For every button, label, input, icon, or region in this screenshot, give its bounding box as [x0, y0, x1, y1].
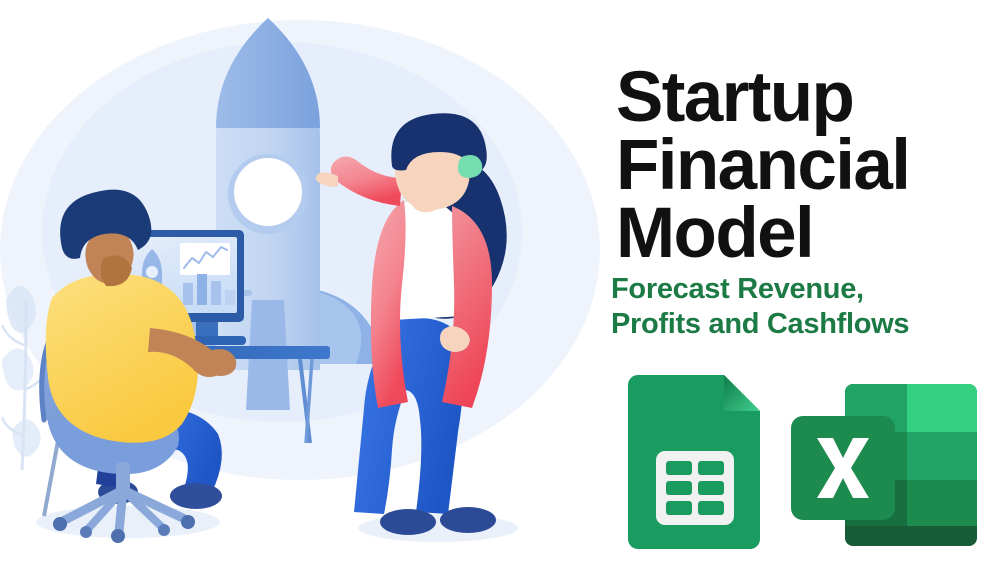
microsoft-excel-icon[interactable] [785, 370, 990, 555]
woman-hair-tie [458, 155, 482, 178]
title-line-1: Startup [616, 64, 1005, 132]
title-line-2: Financial [616, 132, 1005, 200]
excel-band-mid-right [907, 432, 977, 480]
google-sheets-icon[interactable] [618, 373, 770, 551]
man-shoe-right [170, 483, 222, 509]
poster-canvas: Startup Financial Model Forecast Revenue… [0, 0, 1005, 565]
woman-shoe-left [380, 509, 436, 535]
page-subtitle: Forecast Revenue, Profits and Cashflows [611, 272, 1003, 343]
text-panel: Startup Financial Model Forecast Revenue… [600, 0, 1005, 565]
page-title: Startup Financial Model [616, 64, 1005, 268]
excel-band-top-right [907, 384, 977, 432]
man-shirt [46, 274, 198, 443]
excel-band-low-right [907, 480, 977, 526]
title-line-3: Model [616, 200, 1005, 268]
woman-shoe-right [440, 507, 496, 533]
logo-row [600, 365, 1005, 565]
rocket-window [234, 158, 302, 226]
sheets-folded-corner [724, 375, 760, 411]
startup-team-rocket-illustration [0, 0, 600, 565]
subtitle-line-2: Profits and Cashflows [611, 307, 1003, 342]
subtitle-line-1: Forecast Revenue, [611, 272, 1003, 307]
